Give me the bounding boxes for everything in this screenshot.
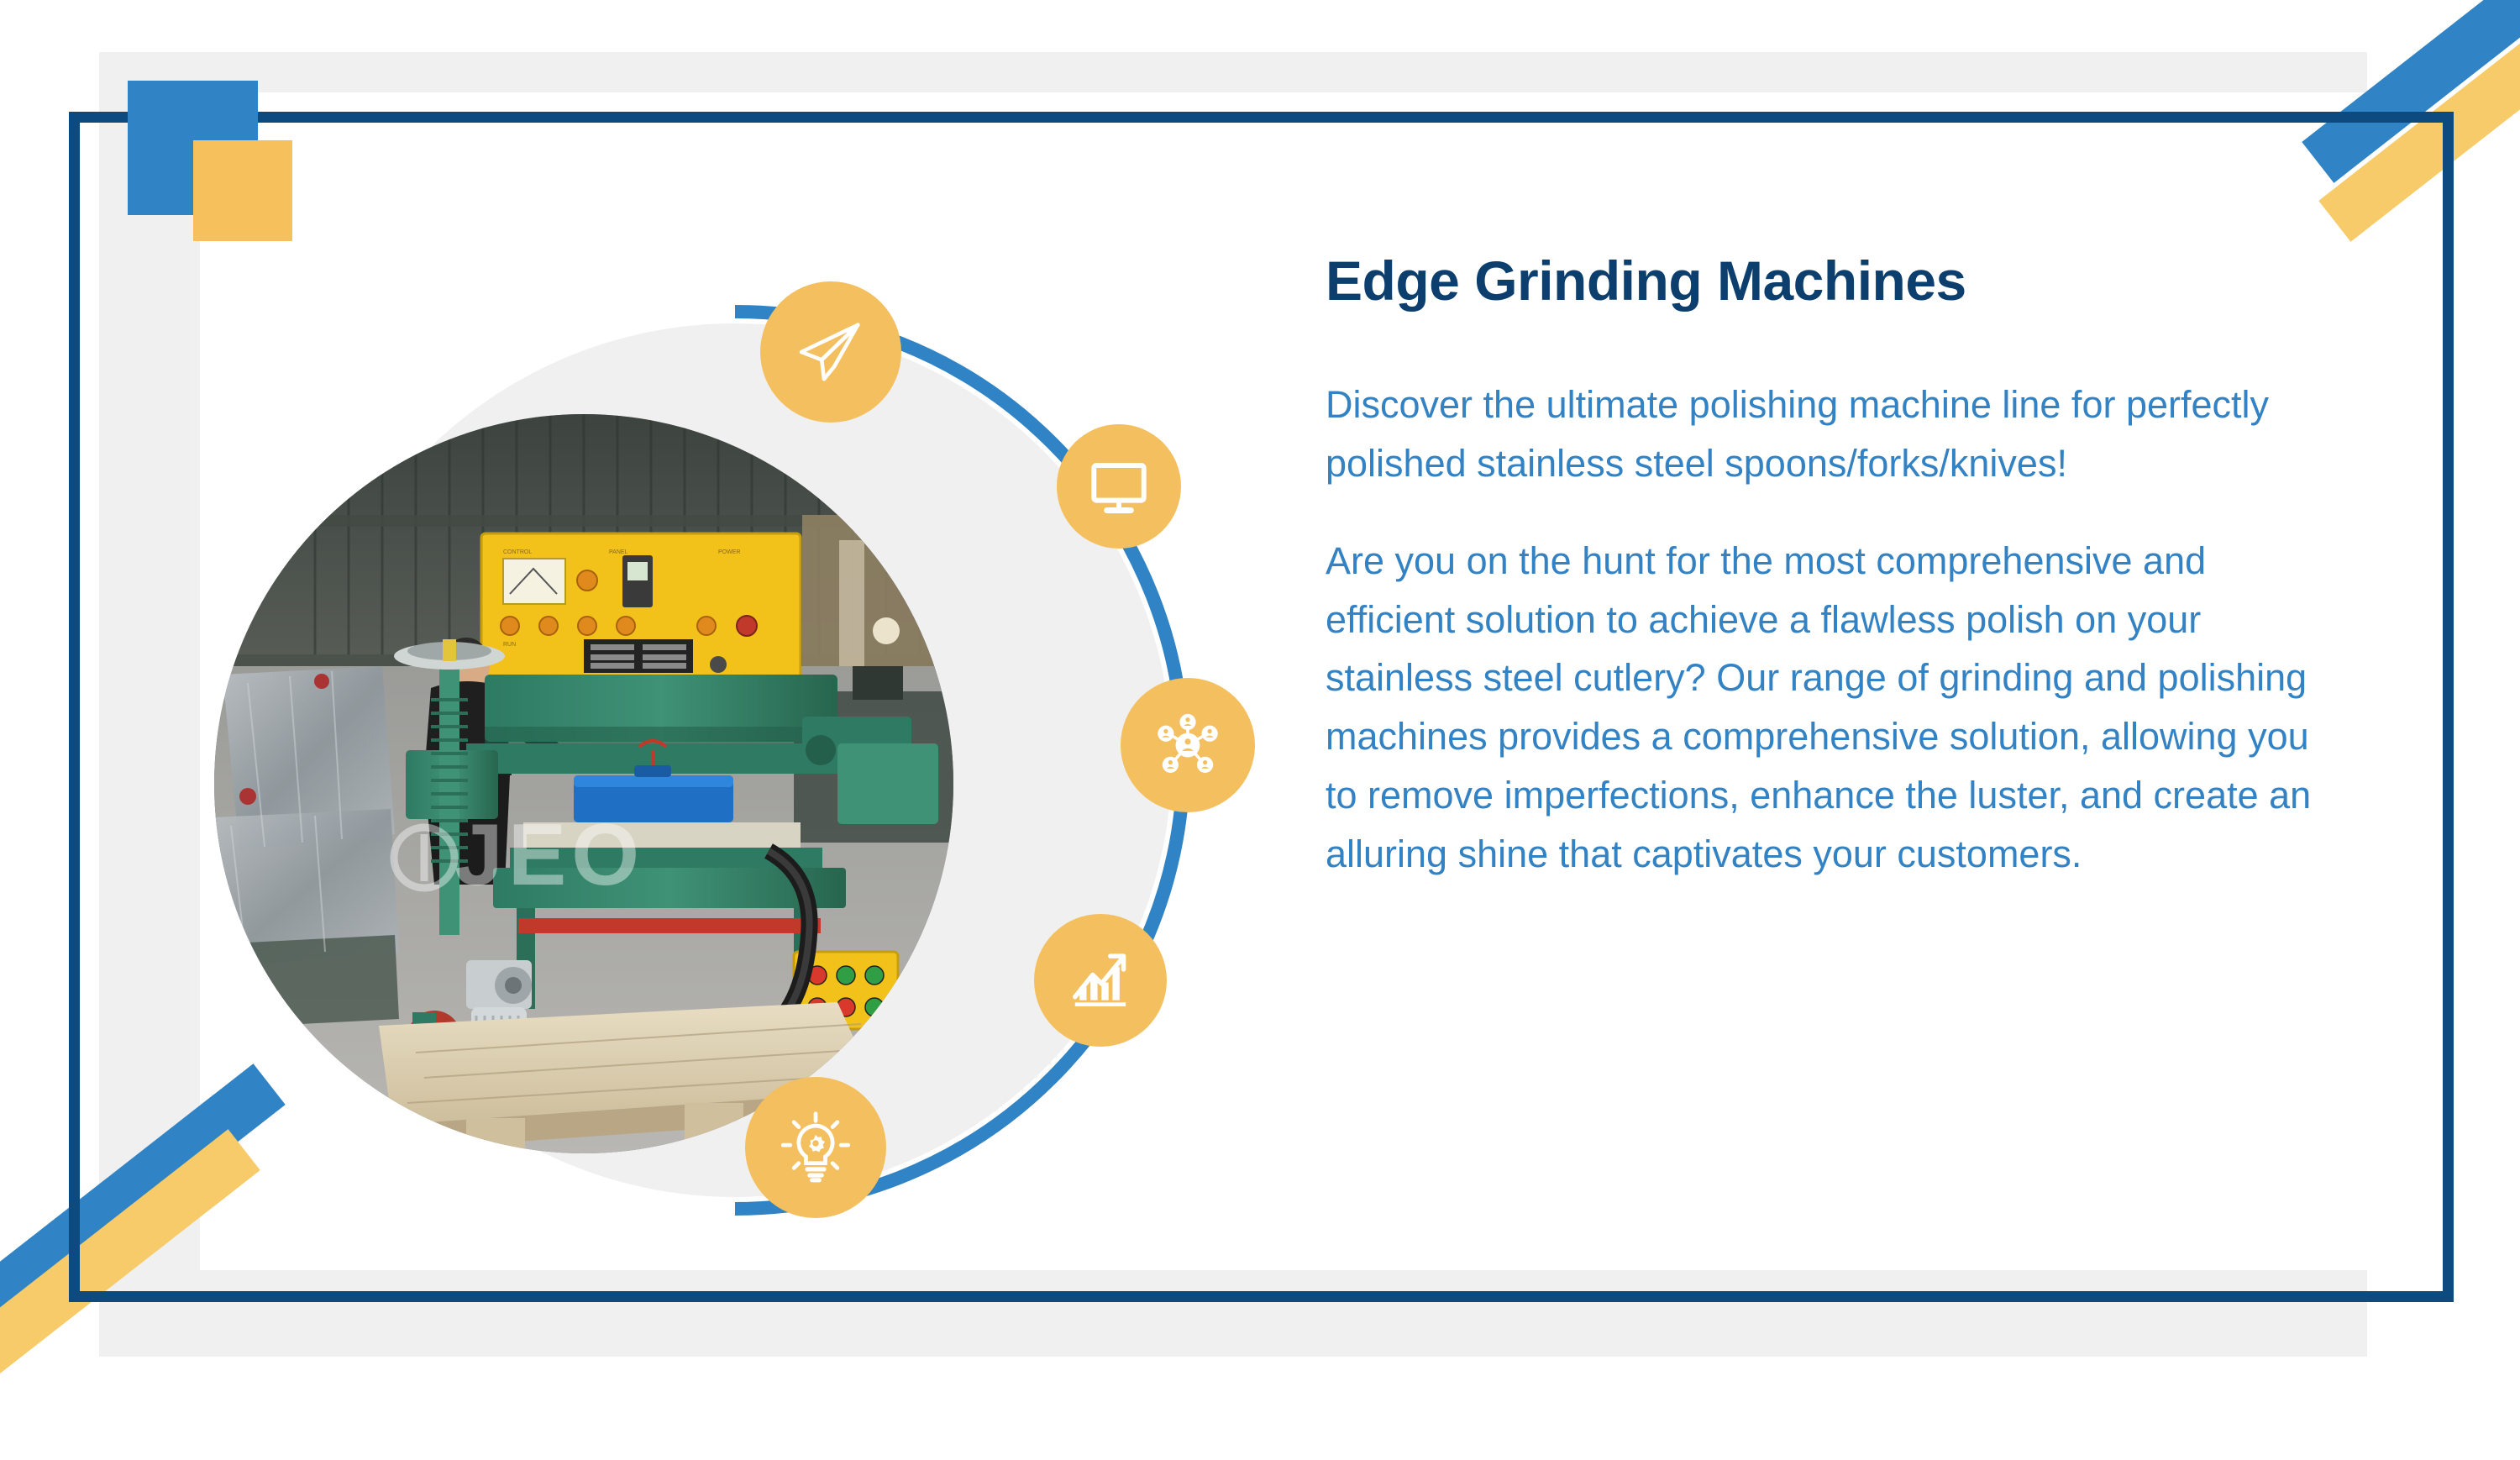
svg-text:POWER: POWER — [718, 549, 740, 555]
text-column: Edge Grinding Machines Discover the ulti… — [1326, 252, 2334, 883]
growth-chart-icon — [1034, 914, 1167, 1047]
square-top-left-yellow — [193, 140, 292, 241]
svg-text:CONTROL: CONTROL — [503, 549, 532, 555]
body-paragraph: Are you on the hunt for the most compreh… — [1326, 532, 2325, 884]
intro-paragraph: Discover the ultimate polishing machine … — [1326, 376, 2325, 493]
slide-canvas: CONTROLPANEL POWERRUN — [0, 0, 2520, 1417]
page-title: Edge Grinding Machines — [1326, 252, 2334, 310]
svg-text:JEO: JEO — [454, 806, 644, 904]
svg-text:RUN: RUN — [503, 642, 516, 648]
hero-graphic: CONTROLPANEL POWERRUN — [214, 290, 1306, 1281]
lightbulb-gear-icon — [745, 1077, 886, 1218]
product-photo: CONTROLPANEL POWERRUN — [214, 414, 953, 1153]
network-people-icon — [1121, 678, 1255, 812]
svg-text:PANEL: PANEL — [609, 549, 628, 555]
monitor-icon — [1057, 424, 1181, 549]
paper-plane-icon — [760, 281, 901, 423]
